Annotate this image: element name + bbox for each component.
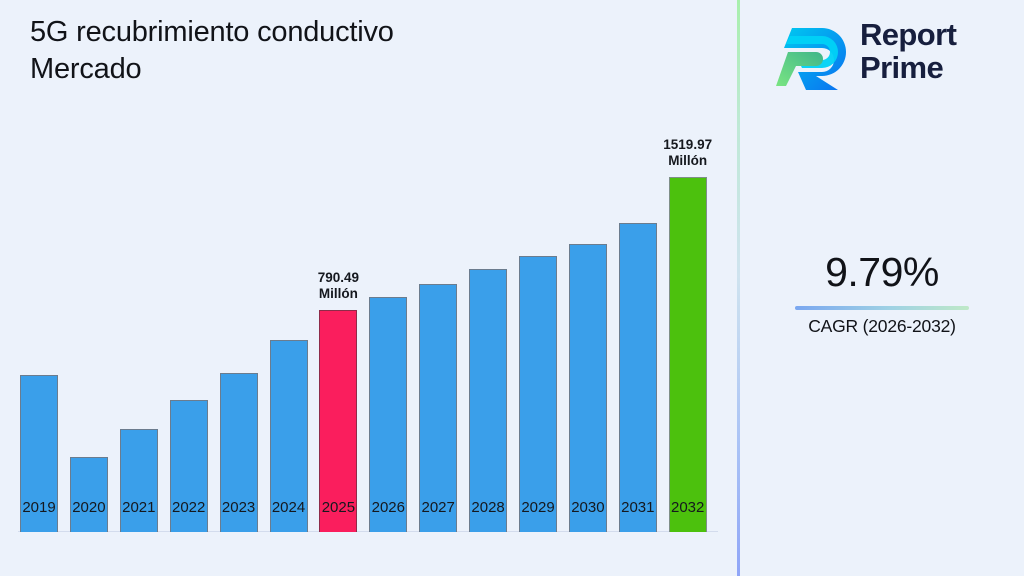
report-prime-r-logo-icon <box>776 20 854 92</box>
bar-2020[interactable] <box>70 457 108 532</box>
bar-2028[interactable] <box>469 269 507 532</box>
bar-2026[interactable] <box>369 297 407 532</box>
brand-name: Report Prime <box>860 18 956 85</box>
bar-2027[interactable] <box>419 284 457 532</box>
cagr-divider-rule <box>795 306 969 310</box>
cagr-value: 9.79% <box>740 252 1024 293</box>
bar-chart: 201920202021202220232024790.49 Millón202… <box>0 0 738 576</box>
bar-2031[interactable] <box>619 223 657 532</box>
bar-2030[interactable] <box>569 244 607 532</box>
side-panel: Report Prime 9.79% CAGR (2026-2032) <box>740 0 1024 576</box>
cagr-label: CAGR (2026-2032) <box>740 316 1024 337</box>
cagr-block: 9.79% CAGR (2026-2032) <box>740 252 1024 337</box>
bar-2029[interactable] <box>519 256 557 532</box>
x-axis-tick-2032: 2032 <box>658 499 718 516</box>
chart-panel: 5G recubrimiento conductivo Mercado 2019… <box>0 0 738 576</box>
screenshot-root: 5G recubrimiento conductivo Mercado 2019… <box>0 0 1024 576</box>
bar-value-label-2032: 1519.97 Millón <box>643 137 733 169</box>
brand-logo: Report Prime <box>776 14 1006 96</box>
bar-2032[interactable] <box>669 177 707 532</box>
bar-2021[interactable] <box>120 429 158 532</box>
